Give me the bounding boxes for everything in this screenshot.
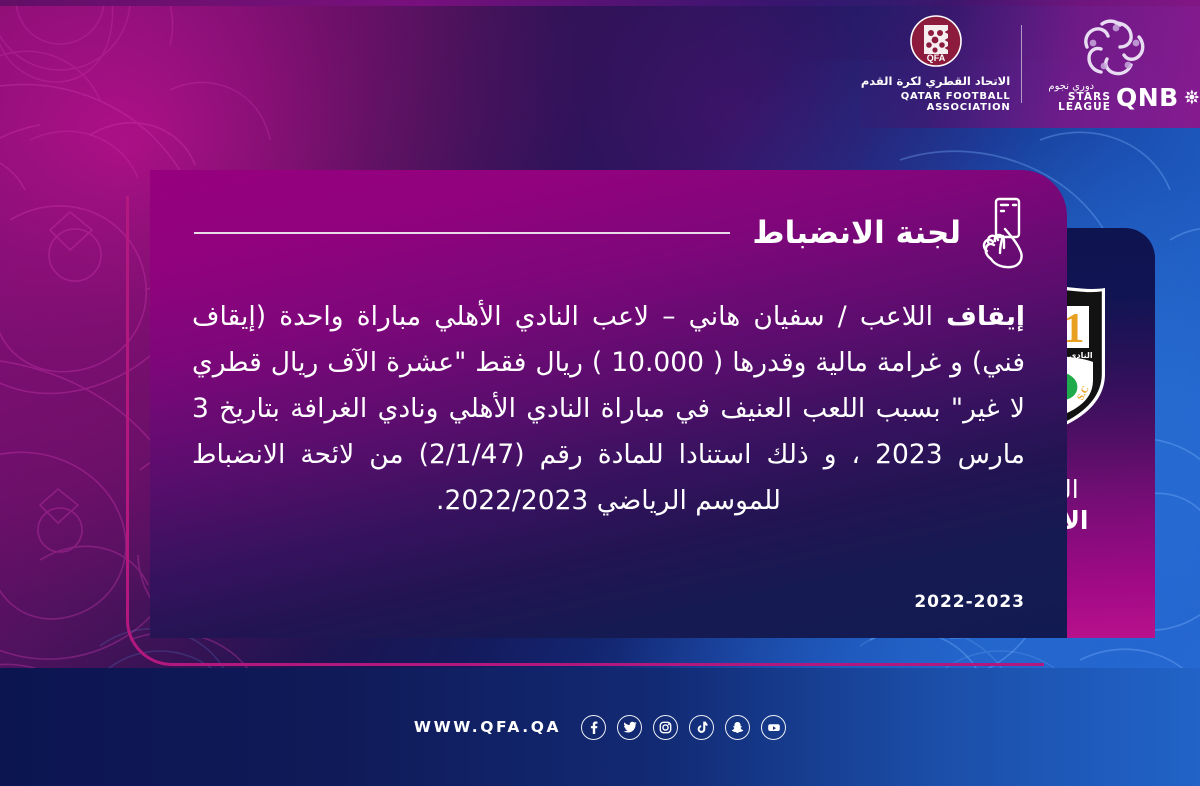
- qnb-league-text: دوري نجوم STARS LEAGUE: [1032, 82, 1112, 113]
- instagram-icon[interactable]: [653, 715, 678, 740]
- qnb-wordmark-row: QNB دوري نجوم STARS LEAGUE: [1032, 82, 1200, 113]
- tiktok-icon[interactable]: [689, 715, 714, 740]
- poster-canvas: QNB دوري نجوم STARS LEAGUE QFA: [0, 0, 1200, 786]
- card-title-row: لجنة الانضباط: [186, 196, 1039, 270]
- announcement-body-lead: إيقاف: [946, 301, 1025, 332]
- website-url[interactable]: WWW.QFA.QA: [414, 718, 561, 736]
- hand-holding-card-icon: [979, 196, 1039, 270]
- snapchat-icon[interactable]: [725, 715, 750, 740]
- footer: WWW.QFA.QA: [0, 668, 1200, 786]
- season-label: 2022-2023: [914, 592, 1025, 612]
- title-rule: [194, 232, 730, 234]
- announcement-card: لجنة الانضباط إيقاف اللاعب / سفيان هاني …: [150, 170, 1067, 638]
- qnb-league-english: STARS LEAGUE: [1032, 92, 1112, 113]
- qnb-league-arabic: دوري نجوم: [1048, 82, 1094, 92]
- twitter-icon[interactable]: [617, 715, 642, 740]
- qnb-stars-league-logo: QNB دوري نجوم STARS LEAGUE: [1032, 16, 1200, 113]
- announcement-body-rest: اللاعب / سفيان هاني – لاعب النادي الأهلي…: [192, 301, 1025, 516]
- youtube-icon[interactable]: [761, 715, 786, 740]
- qnb-brand-text: QNB: [1116, 85, 1179, 110]
- qfa-logo: QFA الاتحاد القطري لكرة القدم QATAR FOOT…: [861, 15, 1011, 113]
- announcement-body: إيقاف اللاعب / سفيان هاني – لاعب النادي …: [192, 294, 1025, 525]
- svg-text:QFA: QFA: [926, 53, 945, 63]
- qfa-name-arabic: الاتحاد القطري لكرة القدم: [861, 74, 1010, 88]
- header-logo-bar: QNB دوري نجوم STARS LEAGUE QFA: [860, 0, 1200, 128]
- qnb-flower-icon: [1184, 87, 1200, 107]
- qnb-star-logo: [1079, 16, 1153, 78]
- logo-divider: [1021, 25, 1022, 103]
- facebook-icon[interactable]: [581, 715, 606, 740]
- qfa-crest-icon: QFA: [910, 15, 962, 71]
- card-title: لجنة الانضباط: [752, 215, 961, 251]
- qfa-name-english: QATAR FOOTBALL ASSOCIATION: [861, 91, 1011, 113]
